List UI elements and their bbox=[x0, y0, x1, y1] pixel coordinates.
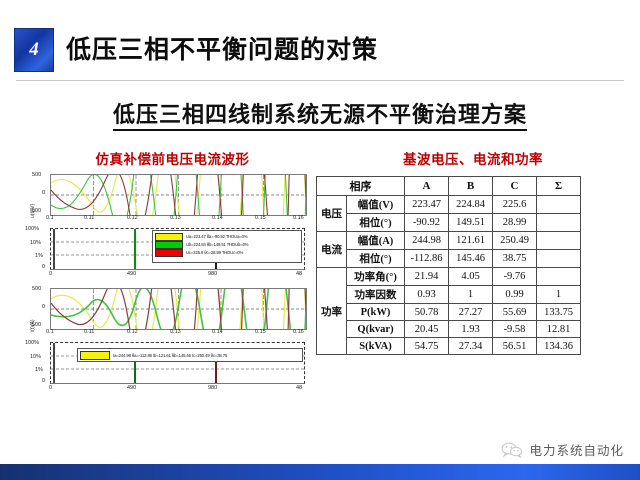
row-label-reactive-power: Q(kvar) bbox=[347, 321, 405, 338]
voltage-waveform-ytick-neg500: -500 bbox=[30, 208, 41, 214]
table-body: 电压 幅值(V) 223.47 224.84 225.6 相位(°) -90.9… bbox=[317, 196, 581, 355]
row-label-apparent-power: S(kVA) bbox=[347, 338, 405, 355]
current-waveform-xtick-6: 0.16 bbox=[293, 329, 304, 335]
current-spectrum-ytick-10: 10% bbox=[30, 354, 41, 360]
row-label-power-factor: 功率因数 bbox=[347, 286, 405, 304]
chart-current-spectrum: 100% 10% 1% 0 Ia=244.98 θa=-112.86 Ib=12… bbox=[24, 340, 312, 394]
section-subtitle-text: 低压三相四线制系统无源不平衡治理方案 bbox=[113, 102, 527, 131]
slide-header: 4 低压三相不平衡问题的对策 bbox=[0, 0, 640, 82]
table-row: S(kVA) 54.75 27.34 56.51 134.36 bbox=[317, 338, 581, 355]
legend-swatch-ia bbox=[80, 351, 110, 360]
voltage-waveform-xtick-6: 0.16 bbox=[293, 215, 304, 221]
row-label-current-magnitude: 幅值(A) bbox=[347, 232, 405, 250]
col-header-phase: 相序 bbox=[317, 177, 405, 196]
footer-brand: 电力系统自动化 bbox=[501, 440, 624, 459]
voltage-spectrum-legend: Ua=223.47 θa=-90.92 THDUa=0% Ub=224.84 θ… bbox=[152, 230, 302, 263]
cell-reactive-power-sum: 12.81 bbox=[537, 321, 581, 338]
voltage-spectrum-ytick-1: 1% bbox=[35, 253, 43, 259]
col-header-a: A bbox=[405, 177, 449, 196]
current-waveform-svg bbox=[51, 289, 306, 329]
section-subtitle: 低压三相四线制系统无源不平衡治理方案 bbox=[0, 97, 640, 129]
row-label-active-power: P(kW) bbox=[347, 304, 405, 321]
table-row: 电流 幅值(A) 244.98 121.61 250.49 bbox=[317, 232, 581, 250]
voltage-waveform-xtick-0: 0.1 bbox=[46, 215, 54, 221]
legend-label-ia: Ia=244.98 θa=-112.86 Ib=121.61 θb=145.46… bbox=[113, 353, 227, 358]
table-row: P(kW) 50.78 27.27 55.69 133.75 bbox=[317, 304, 581, 321]
row-label-current-phase: 相位(°) bbox=[347, 250, 405, 268]
table-head: 相序 A B C Σ bbox=[317, 177, 581, 196]
group-label-voltage: 电压 bbox=[317, 196, 347, 232]
current-spectrum-bar-a bbox=[53, 343, 55, 383]
current-waveform-xtick-3: 0.13 bbox=[170, 329, 181, 335]
voltage-waveform-xtick-4: 0.14 bbox=[212, 215, 223, 221]
cell-voltage-phase-b: 149.51 bbox=[449, 214, 493, 232]
cell-current-phase-a: -112.86 bbox=[405, 250, 449, 268]
voltage-spectrum-bar-a bbox=[53, 229, 55, 269]
voltage-waveform-plot-area bbox=[50, 174, 307, 216]
legend-item: Uc=225.6 θc=28.99 THDUc=0% bbox=[155, 249, 299, 256]
cell-current-magnitude-b: 121.61 bbox=[449, 232, 493, 250]
current-spectrum-xtick-1: 490 bbox=[127, 385, 136, 391]
table-row: 相位(°) -90.92 149.51 28.99 bbox=[317, 214, 581, 232]
cell-active-power-sum: 133.75 bbox=[537, 304, 581, 321]
voltage-waveform-xtick-5: 0.15 bbox=[255, 215, 266, 221]
current-spectrum-ytick-0: 0 bbox=[42, 378, 45, 384]
cell-power-angle-b: 4.05 bbox=[449, 268, 493, 286]
cell-current-phase-sum bbox=[537, 250, 581, 268]
current-waveform-ytick-0: 0 bbox=[42, 304, 45, 310]
cell-apparent-power-c: 56.51 bbox=[493, 338, 537, 355]
voltage-waveform-xtick-1: 0.11 bbox=[84, 215, 94, 221]
cell-power-factor-sum: 1 bbox=[537, 286, 581, 304]
voltage-spectrum-xtick-1: 490 bbox=[127, 271, 136, 277]
cell-power-factor-b: 1 bbox=[449, 286, 493, 304]
legend-swatch-uc bbox=[155, 249, 183, 257]
voltage-spectrum-bar-b bbox=[134, 229, 136, 269]
legend-item: Ua=223.47 θa=-90.92 THDUa=0% bbox=[155, 233, 299, 240]
row-label-power-angle: 功率角(°) bbox=[347, 268, 405, 286]
cell-voltage-phase-sum bbox=[537, 214, 581, 232]
table-row: 功率 功率角(°) 21.94 4.05 -9.76 bbox=[317, 268, 581, 286]
voltage-waveform-xtick-3: 0.13 bbox=[170, 215, 181, 221]
group-label-current: 电流 bbox=[317, 232, 347, 268]
cell-current-magnitude-a: 244.98 bbox=[405, 232, 449, 250]
cell-reactive-power-c: -9.58 bbox=[493, 321, 537, 338]
table-row: 功率因数 0.93 1 0.99 1 bbox=[317, 286, 581, 304]
current-spectrum-xtick-3: 48 bbox=[296, 385, 302, 391]
cell-voltage-magnitude-b: 224.84 bbox=[449, 196, 493, 214]
current-waveform-xtick-4: 0.14 bbox=[212, 329, 223, 335]
caption-waveform: 仿真补偿前电压电流波形 bbox=[30, 148, 315, 168]
current-waveform-plot-area bbox=[50, 288, 307, 330]
cell-voltage-magnitude-a: 223.47 bbox=[405, 196, 449, 214]
voltage-waveform-ytick-0: 0 bbox=[42, 190, 45, 196]
current-spectrum-ytick-1: 1% bbox=[35, 367, 43, 373]
simulation-figure-panel: u(t)(V) 500 0 -500 0.1 0.11 0.12 0.13 0.… bbox=[24, 172, 312, 402]
current-spectrum-legend: Ia=244.98 θa=-112.86 Ib=121.61 θb=145.46… bbox=[77, 348, 303, 362]
cell-power-factor-c: 0.99 bbox=[493, 286, 537, 304]
cell-current-phase-c: 38.75 bbox=[493, 250, 537, 268]
legend-label-ub: Ub=224.84 θb=149.51 THDUb=0% bbox=[186, 242, 248, 247]
cell-power-angle-sum bbox=[537, 268, 581, 286]
voltage-spectrum-ytick-100: 100% bbox=[25, 226, 39, 232]
chart-voltage-waveform: u(t)(V) 500 0 -500 0.1 0.11 0.12 0.13 0.… bbox=[24, 172, 312, 224]
cell-current-magnitude-c: 250.49 bbox=[493, 232, 537, 250]
current-waveform-xtick-5: 0.15 bbox=[255, 329, 266, 335]
voltage-waveform-xtick-2: 0.12 bbox=[127, 215, 138, 221]
legend-item: Ia=244.98 θa=-112.86 Ib=121.61 θb=145.46… bbox=[80, 352, 227, 359]
table-header-row: 相序 A B C Σ bbox=[317, 177, 581, 196]
col-header-c: C bbox=[493, 177, 537, 196]
table-row: 电压 幅值(V) 223.47 224.84 225.6 bbox=[317, 196, 581, 214]
voltage-spectrum-ytick-10: 10% bbox=[30, 240, 41, 246]
table-row: Q(kvar) 20.45 1.93 -9.58 12.81 bbox=[317, 321, 581, 338]
chart-current-waveform: i(t)(A) 500 0 -500 0.1 0.11 0.12 0.13 0.… bbox=[24, 286, 312, 338]
cell-active-power-b: 27.27 bbox=[449, 304, 493, 321]
legend-label-uc: Uc=225.6 θc=28.99 THDUc=0% bbox=[186, 250, 243, 255]
legend-swatch-ub bbox=[155, 241, 183, 249]
cell-apparent-power-sum: 134.36 bbox=[537, 338, 581, 355]
cell-voltage-phase-a: -90.92 bbox=[405, 214, 449, 232]
current-waveform-ytick-neg500: -500 bbox=[30, 322, 41, 328]
page-title: 低压三相不平衡问题的对策 bbox=[66, 32, 378, 68]
legend-label-ua: Ua=223.47 θa=-90.92 THDUa=0% bbox=[186, 234, 248, 239]
cell-power-angle-a: 21.94 bbox=[405, 268, 449, 286]
voltage-spectrum-xtick-2: 980 bbox=[208, 271, 217, 277]
wechat-icon bbox=[501, 442, 523, 458]
cell-voltage-magnitude-c: 225.6 bbox=[493, 196, 537, 214]
voltage-waveform-svg bbox=[51, 175, 306, 215]
voltage-spectrum-xtick-0: 0 bbox=[49, 271, 52, 277]
cell-current-magnitude-sum bbox=[537, 232, 581, 250]
voltage-spectrum-ytick-0: 0 bbox=[42, 264, 45, 270]
footer-brand-text: 电力系统自动化 bbox=[529, 440, 624, 459]
current-waveform-xtick-0: 0.1 bbox=[46, 329, 54, 335]
table-row: 相位(°) -112.86 145.46 38.75 bbox=[317, 250, 581, 268]
voltage-spectrum-xtick-3: 48 bbox=[296, 271, 302, 277]
legend-item: Ub=224.84 θb=149.51 THDUb=0% bbox=[155, 241, 299, 248]
cell-reactive-power-b: 1.93 bbox=[449, 321, 493, 338]
current-spectrum-xtick-0: 0 bbox=[49, 385, 52, 391]
cell-apparent-power-a: 54.75 bbox=[405, 338, 449, 355]
current-waveform-xtick-2: 0.12 bbox=[127, 329, 138, 335]
row-label-voltage-phase: 相位(°) bbox=[347, 214, 405, 232]
cell-reactive-power-a: 20.45 bbox=[405, 321, 449, 338]
cell-active-power-a: 50.78 bbox=[405, 304, 449, 321]
current-waveform-xtick-1: 0.11 bbox=[84, 329, 94, 335]
voltage-waveform-ytick-500: 500 bbox=[32, 172, 41, 178]
cell-power-angle-c: -9.76 bbox=[493, 268, 537, 286]
cell-current-phase-b: 145.46 bbox=[449, 250, 493, 268]
cell-active-power-c: 55.69 bbox=[493, 304, 537, 321]
current-spectrum-ytick-100: 100% bbox=[25, 340, 39, 346]
cell-power-factor-a: 0.93 bbox=[405, 286, 449, 304]
cell-voltage-phase-c: 28.99 bbox=[493, 214, 537, 232]
col-header-b: B bbox=[449, 177, 493, 196]
caption-fundamental: 基波电压、电流和功率 bbox=[318, 148, 628, 168]
fundamental-values-table: 相序 A B C Σ 电压 幅值(V) 223.47 224.84 225.6 … bbox=[316, 176, 581, 355]
legend-swatch-ua bbox=[155, 233, 183, 241]
slide-number-text: 4 bbox=[29, 39, 39, 61]
current-waveform-ytick-500: 500 bbox=[32, 286, 41, 292]
chart-voltage-spectrum: 100% 10% 1% 0 Ua=223.47 θa=-90.92 THDUa=… bbox=[24, 226, 312, 280]
header-divider bbox=[16, 80, 624, 81]
cell-voltage-magnitude-sum bbox=[537, 196, 581, 214]
group-label-power: 功率 bbox=[317, 268, 347, 355]
wechat-icon-svg bbox=[501, 442, 523, 458]
col-header-sum: Σ bbox=[537, 177, 581, 196]
footer-accent-bar bbox=[0, 464, 640, 480]
current-spectrum-xtick-2: 980 bbox=[208, 385, 217, 391]
row-label-voltage-magnitude: 幅值(V) bbox=[347, 196, 405, 214]
slide-number-badge: 4 bbox=[14, 28, 54, 72]
cell-apparent-power-b: 27.34 bbox=[449, 338, 493, 355]
